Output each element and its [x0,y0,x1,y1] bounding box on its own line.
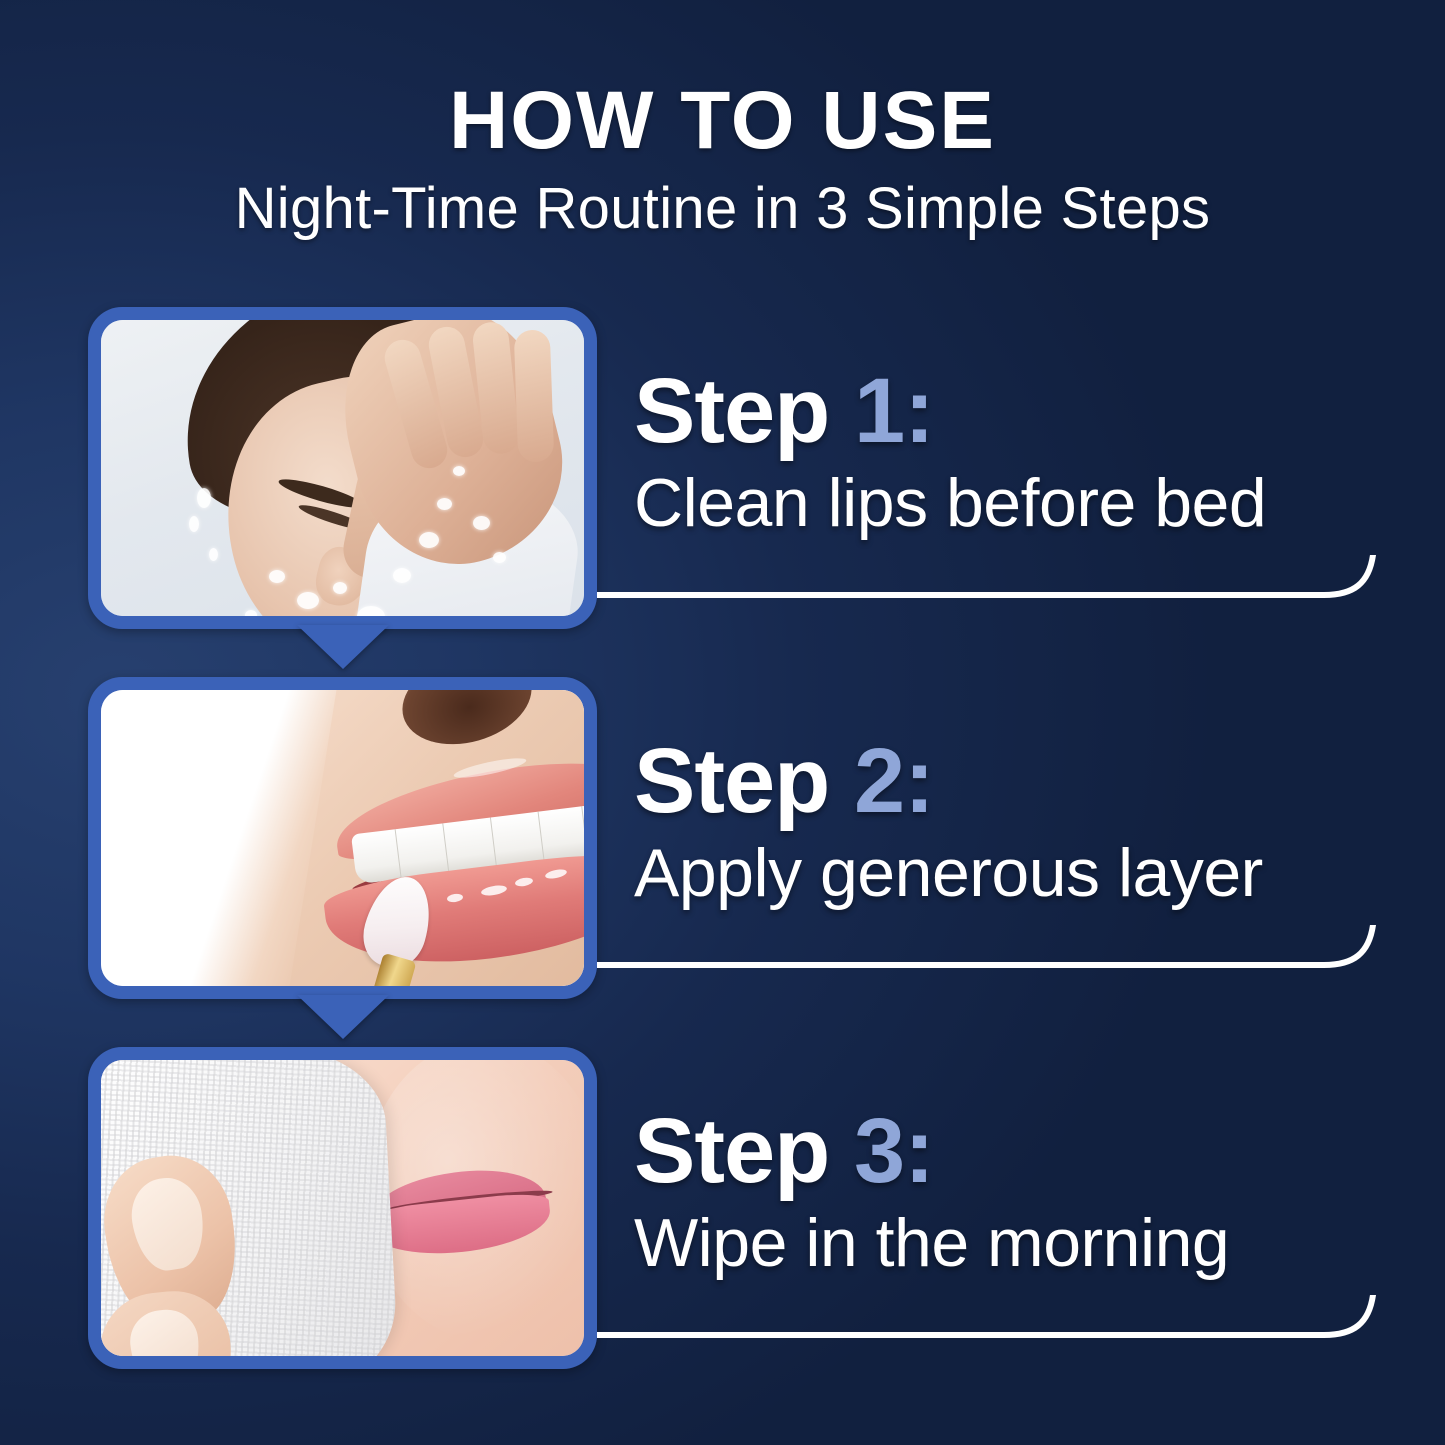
step-heading-3: Step 3: [634,1047,1424,1199]
step-underline-2 [597,925,1397,997]
step-label-1: Step [634,360,829,462]
water-droplet [493,552,506,563]
finger-shape [514,329,555,462]
step-heading-2: Step 2: [634,677,1424,829]
water-droplet [209,548,218,561]
photo-apply-wand [101,690,584,986]
water-droplet [453,466,465,476]
step-image-card-2 [88,677,597,999]
water-droplet [333,582,347,594]
step-label-3: Step [634,1100,829,1202]
photo-washing-face [101,320,584,616]
step-description-2: Apply generous layer [634,829,1424,909]
water-droplet [297,592,319,609]
page-title: HOW TO USE [0,0,1445,164]
water-droplet [245,610,257,616]
step-image-frame-2 [101,690,584,986]
how-to-use-infographic: HOW TO USE Night-Time Routine in 3 Simpl… [0,0,1445,1445]
water-droplet [189,516,199,532]
step-number-3: 3: [854,1100,934,1202]
step-number-1: 1: [854,360,934,462]
photo-towel-wipe [101,1060,584,1356]
step-row-3: Step 3: Wipe in the morning [0,1047,1445,1369]
step-connector-arrow-1 [297,625,389,669]
header: HOW TO USE Night-Time Routine in 3 Simpl… [0,0,1445,240]
step-image-frame-3 [101,1060,584,1356]
step-text-1: Step 1: Clean lips before bed [634,307,1424,629]
step-image-frame-1 [101,320,584,616]
step-underline-3 [597,1295,1397,1367]
step-connector-arrow-2 [297,995,389,1039]
water-droplet [473,516,490,530]
step-description-3: Wipe in the morning [634,1199,1424,1279]
step-description-1: Clean lips before bed [634,459,1424,539]
water-droplet [197,488,211,508]
water-droplet [393,568,411,583]
step-text-3: Step 3: Wipe in the morning [634,1047,1424,1369]
step-image-card-3 [88,1047,597,1369]
step-row-2: Step 2: Apply generous layer [0,677,1445,999]
water-droplet [419,532,439,548]
step-label-2: Step [634,730,829,832]
step-heading-1: Step 1: [634,307,1424,459]
page-subtitle: Night-Time Routine in 3 Simple Steps [0,164,1445,240]
step-underline-1 [597,555,1397,627]
water-droplet [269,570,285,583]
water-droplet [437,498,452,510]
step-number-2: 2: [854,730,934,832]
step-image-card-1 [88,307,597,629]
step-text-2: Step 2: Apply generous layer [634,677,1424,999]
step-row-1: Step 1: Clean lips before bed [0,307,1445,629]
